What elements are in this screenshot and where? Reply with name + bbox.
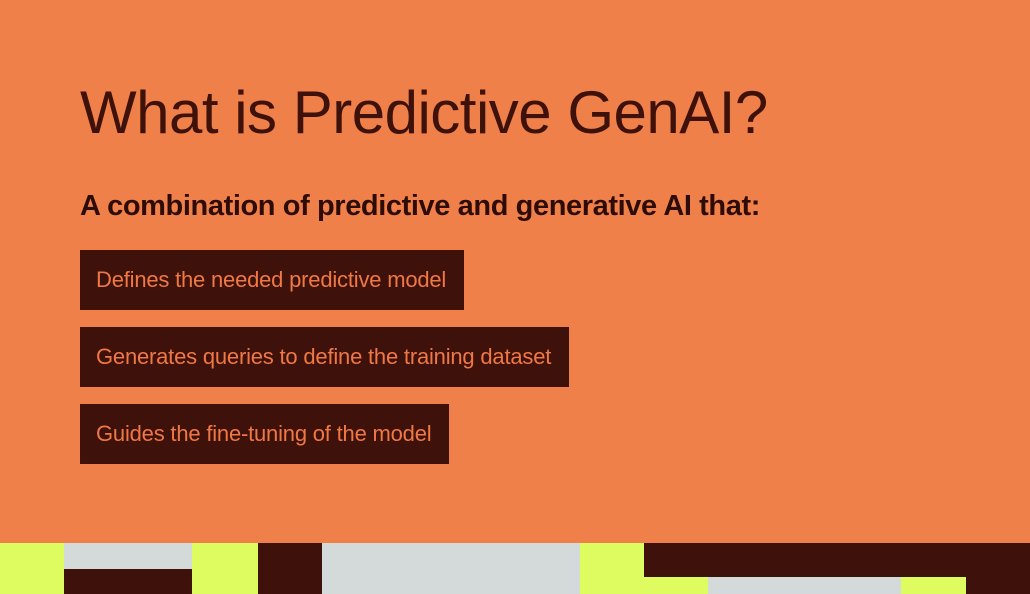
bullet-list: Defines the needed predictive model Gene… [80, 250, 569, 464]
lime-block-1 [0, 543, 64, 594]
footer-decorative-mosaic [0, 543, 1030, 594]
maroon-block-1 [64, 569, 192, 594]
page-subtitle: A combination of predictive and generati… [80, 188, 760, 224]
lime-block-4 [580, 577, 708, 594]
gray-block-2 [322, 543, 580, 594]
gray-block-3 [708, 577, 901, 594]
maroon-block-3 [644, 543, 1030, 577]
gray-block-1 [64, 543, 192, 569]
page-title: What is Predictive GenAI? [80, 78, 768, 148]
slide-canvas: What is Predictive GenAI? A combination … [0, 0, 1030, 594]
maroon-block-2 [258, 543, 322, 594]
list-item: Generates queries to define the training… [80, 327, 569, 387]
list-item: Defines the needed predictive model [80, 250, 464, 310]
maroon-block-4 [966, 577, 1030, 594]
lime-block-2 [192, 543, 258, 594]
list-item: Guides the fine-tuning of the model [80, 404, 449, 464]
lime-block-5 [901, 577, 966, 594]
